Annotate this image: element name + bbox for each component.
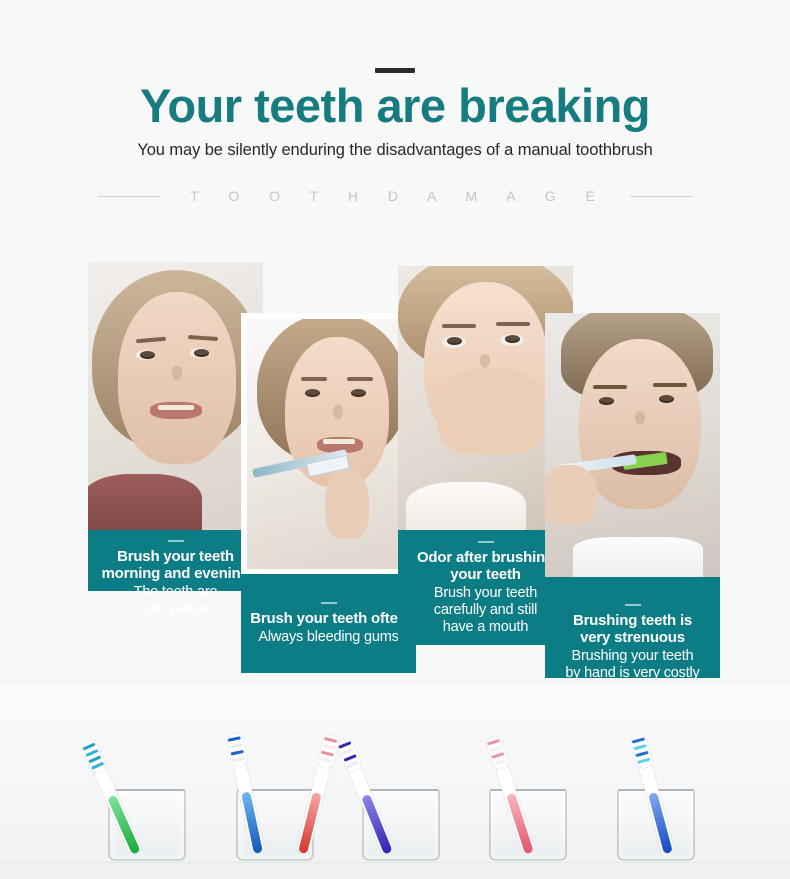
brow-left (301, 377, 327, 381)
hand-covering-mouth (438, 368, 544, 454)
hand-pointing (325, 469, 369, 539)
eye-right (505, 335, 520, 343)
caption-sub-line2: still yellow (88, 601, 263, 618)
title-dash-icon (375, 68, 415, 73)
kicker-label: T O O T H D A M A G E (182, 188, 608, 204)
brush-bristle-row (319, 757, 332, 763)
eye-right (659, 395, 674, 403)
eye-left (447, 337, 462, 345)
nose (333, 405, 343, 419)
eye-right (351, 389, 366, 397)
kicker-line-right (630, 196, 692, 197)
panel-caption-yellow-teeth: Brush your teeth morning and evening The… (88, 530, 263, 591)
caption-title-line1: Brush your teeth (88, 548, 263, 565)
toothbrush-strip (0, 685, 790, 879)
kicker-row: T O O T H D A M A G E (0, 182, 790, 210)
brush-bristle-row (346, 761, 359, 769)
brush-head (80, 738, 108, 776)
caption-sub-line2: by hand is very costly (545, 665, 720, 682)
brush-head (317, 733, 341, 770)
panel-caption-strenuous: Brushing teeth is very strenuous Brushin… (545, 577, 720, 678)
brow-left (593, 385, 627, 389)
panel-photo-bleeding-gums (241, 313, 416, 575)
header-section: Your teeth are breaking You may be silen… (0, 0, 790, 225)
panel-caption-bleeding-gums: Brush your teeth often Always bleeding g… (241, 574, 416, 673)
hand-holding-brush (545, 465, 597, 525)
brush-bristle-row (322, 744, 335, 750)
brow-right (347, 377, 373, 381)
brush-bristle-row (231, 750, 244, 756)
brush-bristle-row (341, 748, 354, 756)
brush-head (226, 732, 249, 769)
brow-right (653, 383, 687, 387)
caption-title-line1: Brush your teeth often (241, 610, 416, 627)
caption-title-line2: morning and evening (88, 565, 263, 582)
nose (480, 354, 490, 368)
brow-left (442, 324, 476, 328)
nose (172, 366, 182, 380)
brush-bristle-row (487, 739, 500, 746)
caption-title-line2: very strenuous (545, 629, 720, 646)
brush-head (630, 733, 654, 770)
teeth (323, 439, 355, 444)
caption-sub-line1: The teeth are (88, 584, 263, 601)
caption-sub-line1: Brushing your teeth (545, 648, 720, 665)
brush-bristle-row (91, 762, 104, 770)
panel-photo-strenuous (545, 313, 720, 577)
brush-bristle-row (632, 737, 645, 743)
brush-bristle-row (635, 751, 648, 757)
page-title: Your teeth are breaking (0, 80, 790, 132)
problem-collage: Brush your teeth morning and evening The… (0, 255, 790, 685)
caption-dash-icon (321, 602, 337, 604)
brush-bristle-row (324, 737, 337, 743)
caption-dash-icon (168, 540, 184, 542)
brush-bristle-row (489, 745, 502, 752)
shelf-line (0, 862, 790, 863)
caption-title-line1: Brushing teeth is (545, 612, 720, 629)
nose (635, 411, 645, 425)
brow-right (496, 322, 530, 326)
eye-right (194, 349, 209, 357)
brush-head (485, 734, 511, 771)
brush-head (336, 737, 364, 775)
brush-bristle-row (232, 757, 245, 763)
caption-sub-line1: Always bleeding gums (241, 629, 416, 646)
eye-left (140, 351, 155, 359)
page-subtitle: You may be silently enduring the disadva… (0, 141, 790, 160)
kicker-line-left (98, 196, 160, 197)
brush-bristle-row (491, 752, 504, 759)
brush-bristle-row (633, 744, 646, 750)
caption-dash-icon (625, 604, 641, 606)
caption-dash-icon (478, 541, 494, 543)
brush-bristle-row (637, 758, 650, 764)
teeth (158, 405, 194, 410)
promo-page: Your teeth are breaking You may be silen… (0, 0, 790, 879)
panel-photo-yellow-teeth (88, 262, 263, 534)
eye-left (599, 397, 614, 405)
shirt (573, 537, 703, 577)
brush-bristle-row (228, 736, 241, 742)
shirt (88, 474, 202, 534)
brush-bristle-row (493, 759, 506, 766)
brush-bristle-row (321, 751, 334, 757)
brush-bristle-row (229, 743, 242, 749)
eye-left (305, 389, 320, 397)
